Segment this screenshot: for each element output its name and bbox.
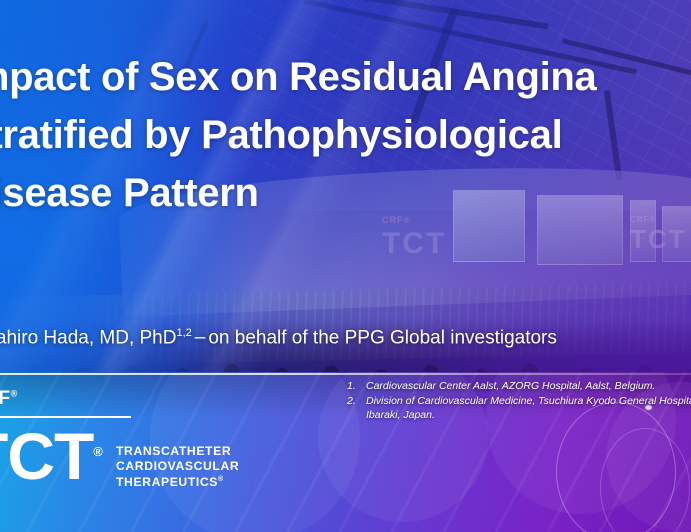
page-title: Impact of Sex on Residual Angina Stratif…	[0, 48, 691, 222]
affiliation-text: Cardiovascular Center Aalst, AZORG Hospi…	[366, 379, 691, 394]
tct-wordmark: TCT®	[0, 416, 102, 492]
presenter-byline: Masahiro Hada, MD, PhD1,2–on behalf of t…	[0, 327, 691, 349]
tct-subtitle-line-3-wrap: THERAPEUTICS®	[116, 473, 239, 490]
crf-text: CRF	[0, 388, 11, 409]
byline-dash: –	[192, 327, 209, 348]
tct-subtitle-line-2: CARDIOVASCULAR	[116, 459, 239, 474]
title-line-2: Stratified by Pathophysiological	[0, 106, 691, 164]
affiliation-refs: 1,2	[176, 327, 191, 339]
title-line-3: Disease Pattern	[0, 164, 691, 222]
tct-text: TCT	[0, 419, 93, 493]
affiliations-list: 1. Cardiovascular Center Aalst, AZORG Ho…	[347, 379, 691, 423]
slide-content: Impact of Sex on Residual Angina Stratif…	[0, 0, 691, 532]
crf-registered-icon: ®	[11, 389, 18, 399]
therapeutics-registered-icon: ®	[218, 476, 224, 483]
presenter-name: Masahiro Hada, MD, PhD	[0, 327, 176, 348]
title-slide: CRF® TCT CRF® TCT Impact of Sex on Resid…	[0, 0, 691, 532]
tct-registered-icon: ®	[93, 444, 102, 459]
on-behalf-of-text: on behalf of the PPG Global investigator…	[208, 327, 557, 348]
tct-subtitle-line-3: THERAPEUTICS	[116, 475, 218, 489]
affiliation-number: 1.	[347, 379, 366, 394]
affiliation-item: 2. Division of Cardiovascular Medicine, …	[347, 394, 691, 423]
title-line-1: Impact of Sex on Residual Angina	[0, 48, 691, 106]
affiliation-text: Division of Cardiovascular Medicine, Tsu…	[366, 394, 691, 423]
tct-subtitle-line-1: TRANSCATHETER	[116, 444, 239, 459]
affiliation-number: 2.	[347, 394, 366, 423]
tct-crf-logo: CRF® TCT® TRANSCATHETER CARDIOVASCULAR T…	[0, 386, 268, 496]
tct-subtitle: TRANSCATHETER CARDIOVASCULAR THERAPEUTIC…	[116, 444, 239, 490]
crf-wordmark: CRF®	[0, 388, 18, 410]
affiliation-item: 1. Cardiovascular Center Aalst, AZORG Ho…	[347, 379, 691, 394]
divider-rule	[0, 373, 691, 375]
